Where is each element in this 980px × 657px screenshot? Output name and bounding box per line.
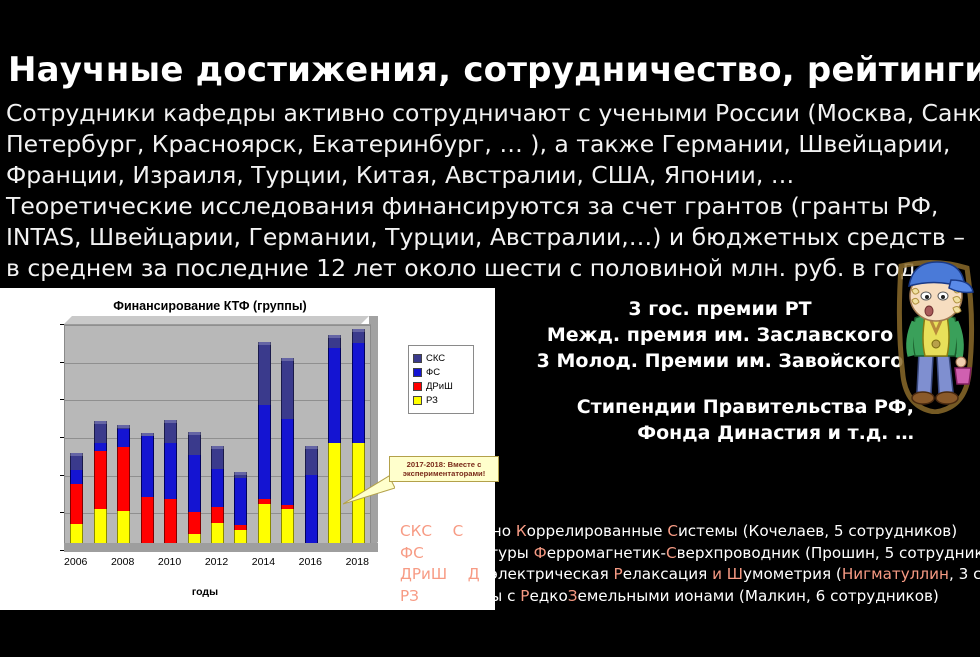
slide-root: Научные достижения, сотрудничество, рейт… (0, 0, 980, 657)
legend-label: ФС (426, 367, 440, 378)
y-axis-tick-mark (60, 512, 64, 513)
glossary-line: СКС -- Сильно Коррелированные Системы (К… (400, 521, 980, 543)
plot-floor (64, 543, 378, 552)
chart-bar-segment (305, 475, 318, 551)
chart-bar-segment (281, 419, 294, 505)
chart-bar-segment (281, 358, 294, 419)
glossary-line: ФС -- структуры Ферромагнетик-Сверхпрово… (400, 543, 980, 565)
page-title: Научные достижения, сотрудничество, рейт… (8, 50, 968, 90)
y-axis-tick-mark (60, 362, 64, 363)
chart-legend-item: ДРиШ (413, 381, 469, 392)
chart-bar (164, 420, 177, 551)
y-axis-tick-mark (60, 324, 64, 325)
chart-bar-segment (234, 478, 247, 525)
glossary-highlight: Нигматуллин (842, 565, 949, 583)
paragraph-line-2: Петербург, Красноярск, Екатеринбург, … )… (6, 129, 974, 160)
awards-block: 3 гос. премии РТ Межд. премия им. Заслав… (520, 296, 920, 446)
chart-title: Финансирование КТФ (группы) (0, 299, 420, 313)
glossary-text: верхпроводник (Прошин, 5 сотрудников) (677, 544, 980, 562)
chart-bar-segment (141, 497, 154, 543)
glossary-highlight: З (568, 587, 578, 605)
body-paragraph: Сотрудники кафедры активно сотрудничают … (6, 98, 974, 284)
chart-bar-top (94, 421, 107, 424)
chart-legend: СКСФСДРиШРЗ (408, 345, 474, 414)
chart-bar-segment (211, 469, 224, 507)
chart-bar (234, 472, 247, 551)
glossary-highlight: Ш (727, 565, 743, 583)
chart-bar-top (234, 472, 247, 475)
glossary-text: истемы (Кочелаев, 5 сотрудников) (678, 522, 957, 540)
chart-bar (352, 329, 365, 551)
glossary-text: ильно (463, 522, 516, 540)
chart-bar-top (141, 433, 154, 436)
chart-bar-segment (188, 512, 201, 534)
glossary-abbr: ФС (400, 544, 424, 562)
glossary-dash: -- (447, 565, 468, 583)
glossary-highlight: С (667, 522, 678, 540)
legend-swatch (413, 354, 422, 363)
chart-bar-segment (164, 420, 177, 443)
glossary-text: елаксация (623, 565, 712, 583)
legend-swatch (413, 396, 422, 405)
callout-arrow-icon (343, 474, 395, 506)
y-axis-tick-mark (60, 475, 64, 476)
legend-label: ДРиШ (426, 381, 453, 392)
chart-bar-segment (141, 436, 154, 497)
chart-bar-segment (234, 525, 247, 531)
paragraph-line-4: Теоретические исследования финансируются… (6, 191, 974, 222)
glossary-highlight: С (453, 522, 464, 540)
chart-bar-segment (281, 505, 294, 509)
chart-bar (94, 421, 107, 551)
chart-bar-segment (117, 429, 130, 448)
chart-bar-segment (328, 348, 341, 443)
grid-line (65, 438, 370, 439)
chart-bar-segment (211, 507, 224, 523)
stipend-line-2: Фонда Династия и т.д. … (520, 420, 920, 446)
glossary-highlight: Ф (534, 544, 547, 562)
chart-bar-top (188, 432, 201, 435)
chart-legend-item: ФС (413, 367, 469, 378)
chart-annotation-callout: 2017-2018: Вместе с экспериментаторами! (389, 456, 499, 482)
x-axis-tick-label: 2010 (150, 556, 190, 568)
chart-bar (281, 358, 294, 551)
glossary-text: ерромагнетик- (547, 544, 666, 562)
glossary-line: ДРиШ -- Диэлектрическая Релаксация и Шум… (400, 564, 980, 586)
chart-bar-segment (164, 499, 177, 542)
chart-bar-segment (305, 446, 318, 474)
chart-bar-top (164, 420, 177, 423)
y-axis-tick-mark (60, 550, 64, 551)
glossary-abbr: РЗ (400, 587, 419, 605)
paragraph-line-6: в среднем за последние 12 лет около шест… (6, 253, 974, 284)
glossary-text: системы с (434, 587, 520, 605)
glossary-abbr: СКС (400, 522, 432, 540)
chart-bar-segment (328, 443, 341, 551)
chart-bar (211, 446, 224, 551)
glossary-text: едко (529, 587, 567, 605)
chart-bar-top (70, 453, 83, 456)
chart-bar-segment (117, 447, 130, 511)
grid-line (65, 400, 370, 401)
chart-bar (305, 446, 318, 551)
chart-bar-segment (94, 443, 107, 451)
legend-label: РЗ (426, 395, 438, 406)
chart-bar-top (352, 329, 365, 332)
chart-bar (117, 425, 130, 551)
glossary-highlight: Р (614, 565, 623, 583)
x-axis-tick-label: 2014 (243, 556, 283, 568)
chart-bar (141, 433, 154, 551)
y-axis-tick-mark (60, 437, 64, 438)
chart-bar-segment (70, 470, 83, 484)
legend-swatch (413, 382, 422, 391)
award-line-3: 3 Молод. Премии им. Завойского (520, 348, 920, 374)
chart-bar-segment (70, 484, 83, 524)
glossary-highlight: С (666, 544, 677, 562)
chart-bar-segment (164, 443, 177, 500)
glossary-highlight: Д (468, 565, 480, 583)
stipend-line-1: Стипендии Правительства РФ, (520, 394, 920, 420)
chart-legend-item: СКС (413, 353, 469, 364)
chart-legend-item: РЗ (413, 395, 469, 406)
chart-x-axis-label: годы (55, 586, 355, 598)
x-axis-tick-label: 2018 (337, 556, 377, 568)
chart-bar-segment (94, 451, 107, 508)
chart-bar (70, 453, 83, 551)
chart-bar-top (305, 446, 318, 449)
chart-bar-segment (258, 405, 271, 499)
cartoon-boy-icon (893, 256, 977, 414)
glossary-text: структуры (444, 544, 533, 562)
x-axis-tick-label: 2008 (103, 556, 143, 568)
awards-spacer (520, 374, 920, 394)
glossary-text: , 3 сотрудника (949, 565, 980, 583)
chart-bar-segment (188, 455, 201, 512)
grid-line (65, 325, 370, 326)
grid-line (65, 363, 370, 364)
chart-bar-top (328, 335, 341, 338)
chart-bar (328, 335, 341, 551)
paragraph-line-3: Франции, Израиля, Турции, Китая, Австрал… (6, 160, 974, 191)
chart-bar-segment (258, 342, 271, 405)
award-line-1: 3 гос. премии РТ (520, 296, 920, 322)
glossary-text: иэлектрическая (480, 565, 614, 583)
legend-swatch (413, 368, 422, 377)
glossary-line: РЗ - системы с РедкоЗемельными ионами (М… (400, 586, 980, 608)
glossary-dash: -- (432, 522, 453, 540)
chart-bar-segment (188, 432, 201, 455)
x-axis-tick-label: 2016 (290, 556, 330, 568)
glossary-text: емельными ионами (Малкин, 6 сотрудников) (578, 587, 939, 605)
plot-area (64, 324, 371, 552)
glossary-text: оррелированные (527, 522, 668, 540)
award-line-2: Межд. премия им. Заславского (520, 322, 920, 348)
chart-bar (258, 342, 271, 551)
chart-bar-segment (352, 343, 365, 443)
chart-bar-top (281, 358, 294, 361)
glossary-block: СКС -- Сильно Коррелированные Системы (К… (400, 521, 980, 607)
chart-bar-segment (258, 499, 271, 504)
glossary-dash: - (419, 587, 434, 605)
chart-bar-top (258, 342, 271, 345)
chart-bar-top (117, 425, 130, 428)
x-axis-tick-label: 2006 (56, 556, 96, 568)
x-axis-tick-label: 2012 (197, 556, 237, 568)
chart-bar (188, 432, 201, 551)
glossary-text: умометрия ( (743, 565, 842, 583)
paragraph-line-1: Сотрудники кафедры активно сотрудничают … (6, 98, 974, 129)
paragraph-line-5: INTAS, Швейцарии, Германии, Турции, Авст… (6, 222, 974, 253)
y-axis-tick-mark (60, 399, 64, 400)
chart-bar-segment (94, 421, 107, 443)
plot-top-face (64, 316, 369, 324)
glossary-highlight: К (516, 522, 527, 540)
glossary-dash: -- (424, 544, 445, 562)
glossary-highlight: и (712, 565, 722, 583)
legend-label: СКС (426, 353, 445, 364)
chart-bar-segment (211, 446, 224, 470)
chart-bar-top (211, 446, 224, 449)
glossary-abbr: ДРиШ (400, 565, 447, 583)
